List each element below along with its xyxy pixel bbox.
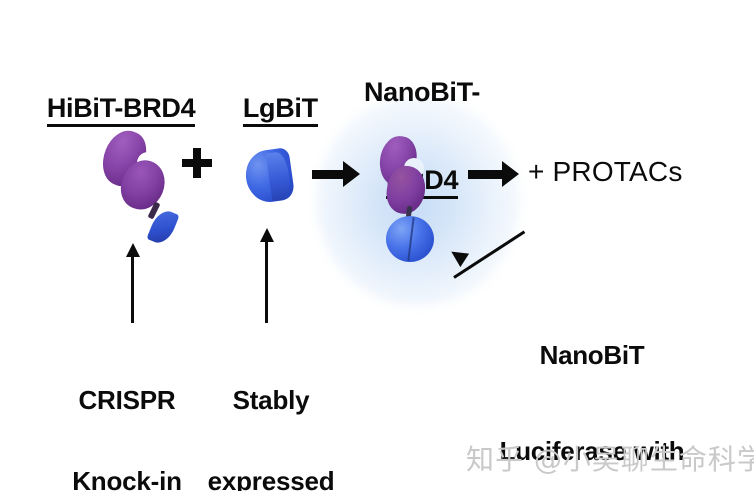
caption-stably-line1: Stably [196, 387, 346, 414]
caption-stably-line2: expressed [196, 468, 346, 491]
crispr-annotation-arrow [122, 243, 144, 323]
caption-crispr-line2: Knock-in [62, 468, 192, 491]
protacs-label: + PROTACs [528, 157, 683, 186]
heading-lgbit: LgBiT [214, 66, 318, 155]
lgbit-fragment-icon [246, 150, 298, 208]
heading-lgbit-label: LgBiT [243, 94, 318, 127]
caption-nanobit-line1: NanoBiT [430, 340, 754, 372]
arrow-shaft [312, 170, 345, 179]
arrow-head [502, 161, 519, 187]
arrow-head [447, 245, 469, 267]
watermark-text: 知乎 @小吴聊生命科学 [466, 438, 754, 478]
stably-expressed-annotation-arrow [256, 228, 278, 323]
caption-crispr-line1: CRISPR [62, 387, 192, 414]
reaction-arrow-1 [312, 161, 360, 187]
arrow-shaft [468, 170, 504, 179]
reaction-arrow-2 [468, 161, 520, 187]
heading-hibit-brd4-label: HiBiT-BRD4 [47, 94, 196, 127]
diagram-canvas: HiBiT-BRD4 LgBiT NanoBiT- BRD4 [0, 0, 754, 491]
plus-icon [182, 148, 212, 178]
arrow-shaft [265, 239, 268, 323]
arrow-shaft [131, 254, 134, 323]
caption-crispr: CRISPR Knock-in [62, 333, 192, 491]
caption-stably-expressed: Stably expressed [196, 333, 346, 491]
heading-nanobit-brd4-line1: NanoBiT- [352, 78, 492, 106]
hibit-brd4-protein-icon [96, 126, 188, 234]
nanobit-brd4-complex-icon [374, 136, 458, 260]
arrow-head [343, 161, 360, 187]
